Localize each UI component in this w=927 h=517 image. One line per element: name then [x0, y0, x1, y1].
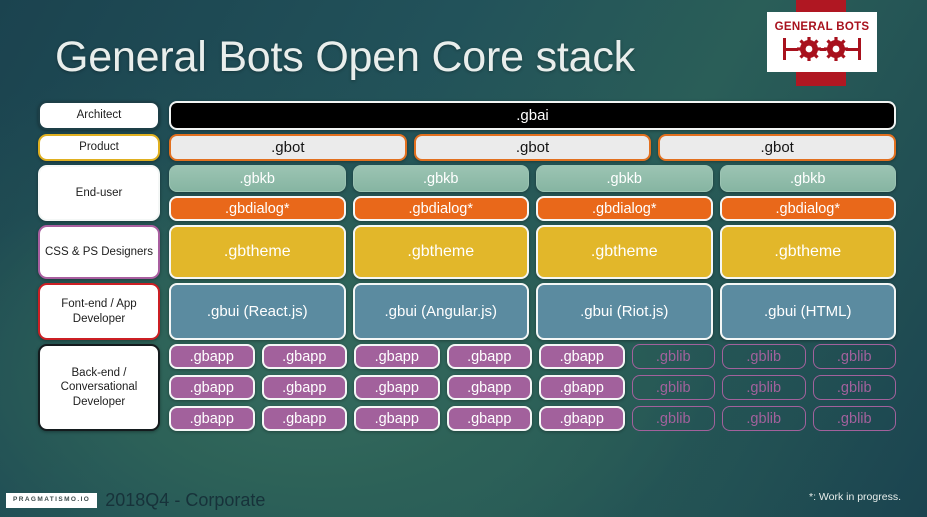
stack-cell-gbapp[interactable]: .gbapp [354, 375, 440, 400]
stack-cell-gbapp[interactable]: .gbapp [539, 406, 625, 431]
stack-cell-gblib[interactable]: .gblib [722, 344, 806, 369]
stack-cell-gblib[interactable]: .gblib [632, 344, 716, 369]
stack-cell-gblib[interactable]: .gblib [813, 344, 897, 369]
footer-label: 2018Q4 - Corporate [105, 490, 265, 511]
stack-cell-gbapp[interactable]: .gbapp [354, 344, 440, 369]
gbapp-gblib-row: .gbapp .gbapp .gbapp .gbapp .gbapp .gbli… [169, 344, 896, 369]
stack-cell-gbai[interactable]: .gbai [169, 101, 896, 130]
stack-cell-gbapp[interactable]: .gbapp [539, 375, 625, 400]
role-label-product: Product [38, 134, 160, 161]
stack-cell-gbapp[interactable]: .gbapp [262, 375, 348, 400]
pragmatismo-logo: PRAGMATISMO.IO [6, 493, 97, 508]
stack-diagram: Architect .gbai Product .gbot .gbot .gbo… [38, 101, 896, 435]
stack-cell-gblib[interactable]: .gblib [813, 406, 897, 431]
stack-row-architect: Architect .gbai [38, 101, 896, 130]
stack-cell-gblib[interactable]: .gblib [632, 375, 716, 400]
stack-cell-gblib[interactable]: .gblib [813, 375, 897, 400]
gbui-cells: .gbui (React.js) .gbui (Angular.js) .gbu… [169, 283, 896, 340]
stack-cell-gbtheme[interactable]: .gbtheme [720, 225, 897, 279]
stack-cell-gbdialog[interactable]: .gbdialog* [353, 196, 530, 221]
stack-cell-gbui-angular[interactable]: .gbui (Angular.js) [353, 283, 530, 340]
gbkb-cells: .gbkb .gbkb .gbkb .gbkb [169, 165, 896, 192]
role-label-designers: CSS & PS Designers [38, 225, 160, 279]
stack-cell-gbapp[interactable]: .gbapp [447, 406, 533, 431]
gbapp-gblib-row: .gbapp .gbapp .gbapp .gbapp .gbapp .gbli… [169, 406, 896, 431]
stack-cell-gbtheme[interactable]: .gbtheme [353, 225, 530, 279]
stack-cell-gbot[interactable]: .gbot [658, 134, 896, 161]
gbtheme-cells: .gbtheme .gbtheme .gbtheme .gbtheme [169, 225, 896, 279]
stack-cell-gbkb[interactable]: .gbkb [536, 165, 713, 192]
role-label-architect: Architect [38, 101, 160, 130]
role-label-frontend-developer: Font-end / App Developer [38, 283, 160, 340]
role-label-backend-developer: Back-end / Conversational Developer [38, 344, 160, 431]
gbapp-gblib-grid: .gbapp .gbapp .gbapp .gbapp .gbapp .gbli… [169, 344, 896, 431]
stack-cell-gbapp[interactable]: .gbapp [539, 344, 625, 369]
stack-cell-gbapp[interactable]: .gbapp [447, 375, 533, 400]
stack-cell-gbapp[interactable]: .gbapp [354, 406, 440, 431]
stack-row-frontend-developer: Font-end / App Developer .gbui (React.js… [38, 283, 896, 340]
stack-cell-gbot[interactable]: .gbot [414, 134, 652, 161]
stack-cell-gbui-react[interactable]: .gbui (React.js) [169, 283, 346, 340]
stack-cell-gbapp[interactable]: .gbapp [169, 344, 255, 369]
role-label-end-user: End-user [38, 165, 160, 221]
stack-cell-gbtheme[interactable]: .gbtheme [169, 225, 346, 279]
work-in-progress-note: *: Work in progress. [809, 491, 901, 503]
stack-cell-gbdialog[interactable]: .gbdialog* [720, 196, 897, 221]
stack-cell-gbapp[interactable]: .gbapp [169, 406, 255, 431]
stack-cell-gbkb[interactable]: .gbkb [720, 165, 897, 192]
stack-row-product: Product .gbot .gbot .gbot [38, 134, 896, 161]
stack-cell-gbapp[interactable]: .gbapp [262, 344, 348, 369]
product-cells: .gbot .gbot .gbot [169, 134, 896, 161]
gbdialog-cells: .gbdialog* .gbdialog* .gbdialog* .gbdial… [169, 196, 896, 221]
stack-cell-gbui-riot[interactable]: .gbui (Riot.js) [536, 283, 713, 340]
architect-cells: .gbai [169, 101, 896, 130]
stack-cell-gbdialog[interactable]: .gbdialog* [536, 196, 713, 221]
stack-cell-gbkb[interactable]: .gbkb [353, 165, 530, 192]
gears-icon [779, 36, 865, 62]
stack-cell-gblib[interactable]: .gblib [722, 375, 806, 400]
stack-cell-gbtheme[interactable]: .gbtheme [536, 225, 713, 279]
logo-wordmark: GENERAL BOTS [775, 22, 870, 34]
stack-cell-gbapp[interactable]: .gbapp [262, 406, 348, 431]
footer-left: PRAGMATISMO.IO 2018Q4 - Corporate [6, 490, 265, 511]
general-bots-logo: GENERAL BOTS [767, 0, 877, 86]
logo-card: GENERAL BOTS [767, 12, 877, 72]
page-title: General Bots Open Core stack [55, 33, 635, 82]
stack-cell-gbapp[interactable]: .gbapp [447, 344, 533, 369]
stack-row-end-user: End-user .gbkb .gbkb .gbkb .gbkb .gbdial… [38, 165, 896, 221]
gbapp-gblib-row: .gbapp .gbapp .gbapp .gbapp .gbapp .gbli… [169, 375, 896, 400]
stack-cell-gbdialog[interactable]: .gbdialog* [169, 196, 346, 221]
stack-cell-gbui-html[interactable]: .gbui (HTML) [720, 283, 897, 340]
stack-cell-gbkb[interactable]: .gbkb [169, 165, 346, 192]
stack-cell-gblib[interactable]: .gblib [632, 406, 716, 431]
stack-row-backend-developer: Back-end / Conversational Developer .gba… [38, 344, 896, 431]
slide-canvas: General Bots Open Core stack GENERAL BOT… [0, 0, 927, 517]
stack-row-designers: CSS & PS Designers .gbtheme .gbtheme .gb… [38, 225, 896, 279]
stack-cell-gbot[interactable]: .gbot [169, 134, 407, 161]
stack-cell-gblib[interactable]: .gblib [722, 406, 806, 431]
stack-cell-gbapp[interactable]: .gbapp [169, 375, 255, 400]
